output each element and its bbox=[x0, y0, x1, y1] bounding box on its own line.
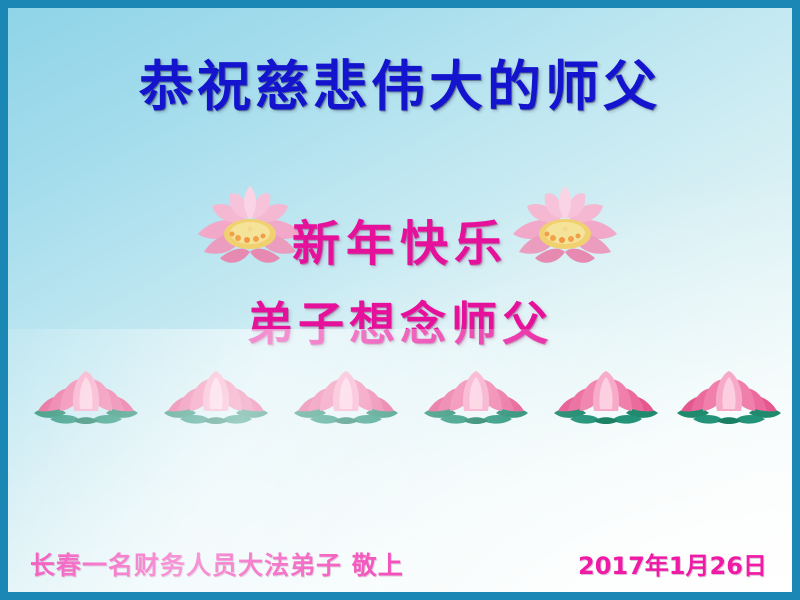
card-title: 恭祝慈悲伟大的师父 bbox=[8, 60, 792, 114]
lotus-flower-with-leaves-icon bbox=[290, 363, 402, 425]
signature-line: 长春一名财务人员大法弟子 敬上 bbox=[30, 553, 404, 578]
date-line: 2017年1月26日 bbox=[578, 554, 767, 578]
greeting-card: 恭祝慈悲伟大的师父 新年快乐 弟子想念师父 长春一名财务人员大法弟子 敬上 20… bbox=[0, 0, 800, 600]
lotus-flower-with-leaves-icon bbox=[550, 363, 662, 425]
lotus-flower-with-leaves-icon bbox=[673, 363, 785, 425]
lotus-flower-with-leaves-icon bbox=[30, 363, 142, 425]
new-year-greeting: 新年快乐 bbox=[8, 220, 792, 268]
card-canvas: 恭祝慈悲伟大的师父 新年快乐 弟子想念师父 长春一名财务人员大法弟子 敬上 20… bbox=[8, 8, 792, 592]
missing-master-message: 弟子想念师父 bbox=[8, 301, 792, 347]
lotus-flower-with-leaves-icon bbox=[420, 363, 532, 425]
lotus-flower-with-leaves-icon bbox=[160, 363, 272, 425]
